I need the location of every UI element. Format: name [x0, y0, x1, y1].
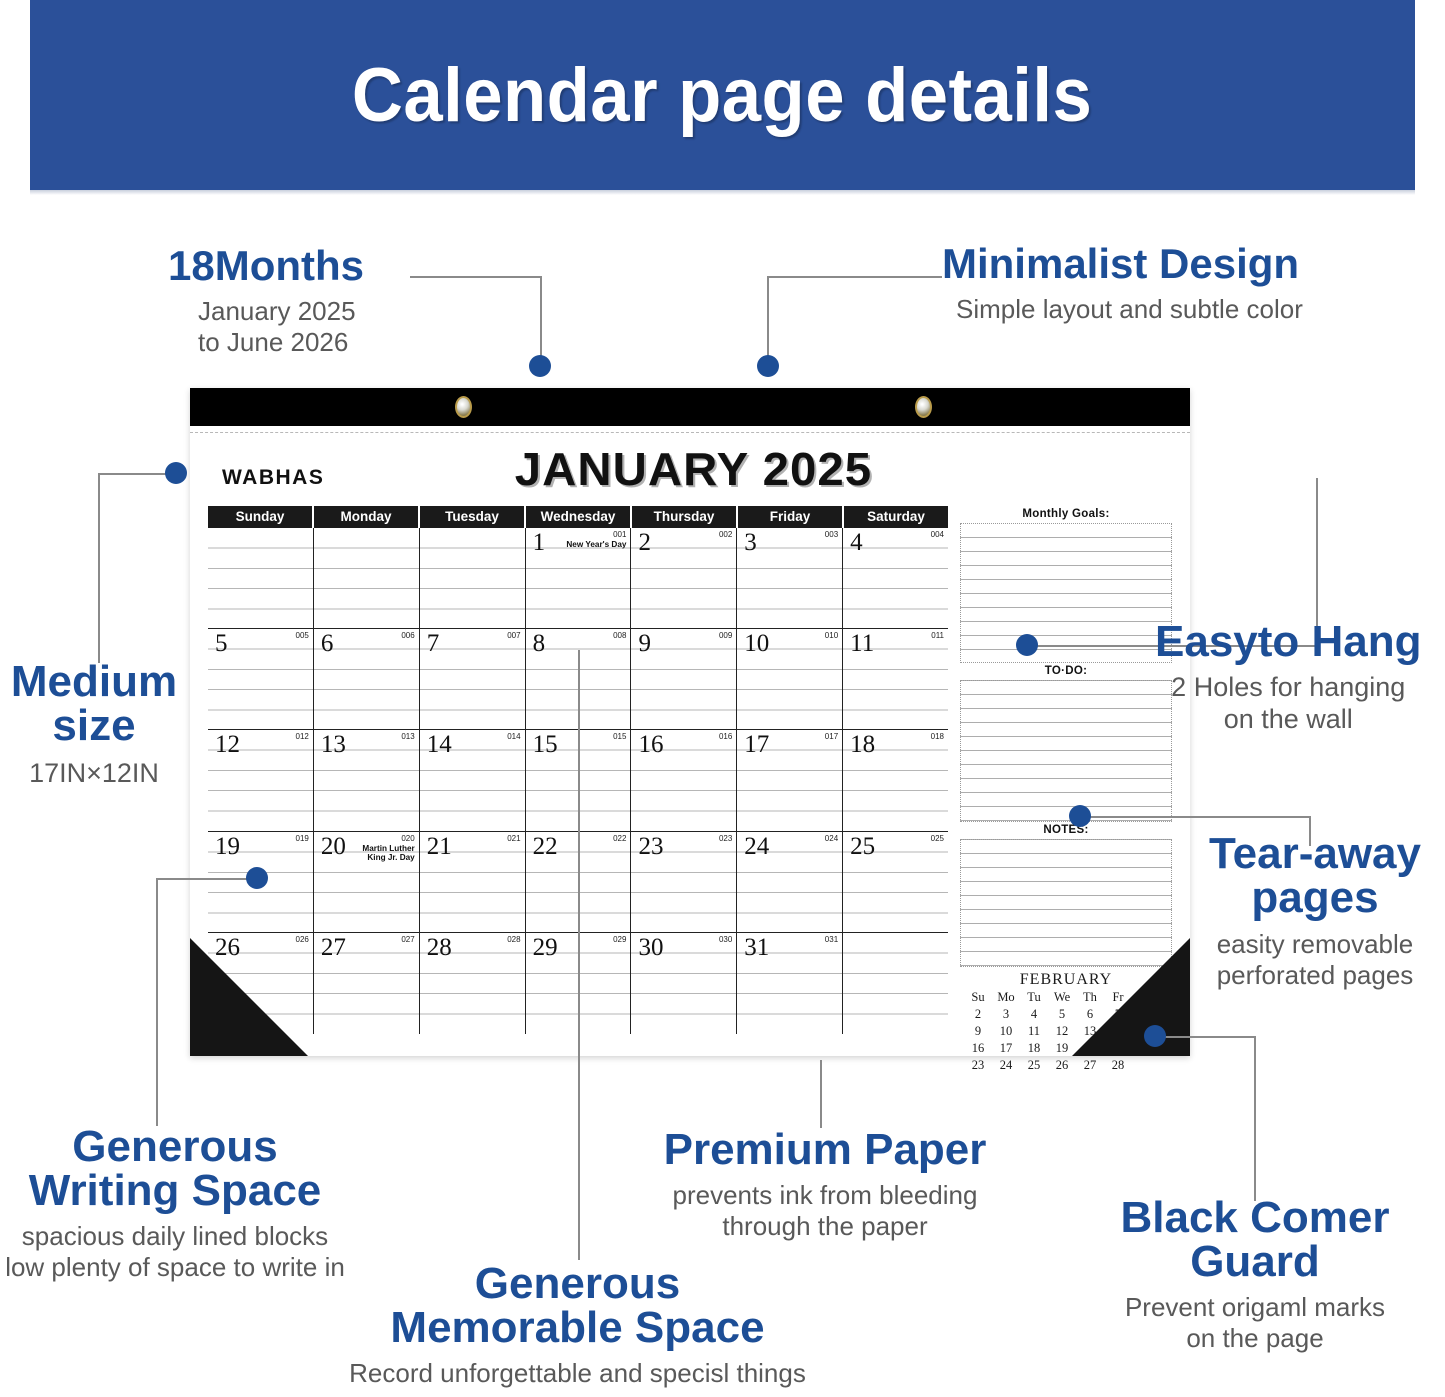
day-number: 31	[744, 935, 769, 960]
mini-day-number: 28	[1104, 1057, 1132, 1074]
perforation-line	[190, 432, 1190, 433]
calendar-day-cell[interactable]: 4004	[843, 528, 948, 628]
day-of-year-number: 020	[401, 834, 414, 843]
mini-day-number	[1132, 1057, 1160, 1074]
mini-day-number: 11	[1020, 1023, 1048, 1040]
day-of-year-number: 028	[507, 935, 520, 944]
day-of-year-number: 005	[296, 631, 309, 640]
day-number: 3	[744, 530, 757, 555]
day-of-year-number: 023	[719, 834, 732, 843]
day-number: 4	[850, 530, 863, 555]
mini-weekday-su: Su	[964, 989, 992, 1006]
day-of-year-number: 014	[507, 732, 520, 741]
day-of-year-number: 019	[296, 834, 309, 843]
holiday-label: New Year's Day	[554, 540, 626, 549]
day-of-year-number: 021	[507, 834, 520, 843]
callout-dot-tear	[1069, 805, 1091, 827]
callout-dot-corner	[1144, 1025, 1166, 1047]
weekday-header-saturday: Saturday	[844, 506, 948, 528]
calendar-sheet: WABHAS JANUARY 2025 SundayMondayTuesdayW…	[190, 388, 1190, 1056]
day-of-year-number: 024	[825, 834, 838, 843]
callout-months-sub: January 2025 to June 2026	[198, 296, 364, 357]
day-number: 18	[850, 732, 875, 757]
brand-name: WABHAS	[222, 466, 324, 490]
leader-line-paper-v	[820, 1060, 822, 1128]
callout-corner-guard: Black Comer Guard Prevent origaml marks …	[1075, 1196, 1435, 1353]
calendar-head: WABHAS JANUARY 2025	[190, 440, 1190, 508]
calendar-day-cell[interactable]: 13013	[314, 730, 420, 830]
calendar-day-cell[interactable]: 16016	[631, 730, 737, 830]
calendar-day-cell[interactable]: 21021	[420, 832, 526, 932]
callout-medium-size-sub: 17IN×12IN	[0, 758, 194, 790]
day-number: 19	[215, 834, 240, 859]
calendar-day-cell[interactable]: 1001New Year's Day	[526, 528, 632, 628]
callout-months-title: 18Months	[168, 245, 364, 287]
mini-day-number: 2	[964, 1006, 992, 1023]
day-number: 13	[321, 732, 346, 757]
day-number: 6	[321, 631, 334, 656]
day-number: 14	[427, 732, 452, 757]
todo-lines[interactable]	[960, 680, 1172, 822]
day-of-year-number: 009	[719, 631, 732, 640]
mini-weekday-tu: Tu	[1020, 989, 1048, 1006]
day-number: 1	[533, 530, 546, 555]
black-corner-guard-left	[190, 938, 308, 1056]
day-of-year-number: 004	[931, 530, 944, 539]
weekday-header-monday: Monday	[314, 506, 420, 528]
leader-line-memorable-v	[578, 650, 580, 1260]
day-number: 16	[638, 732, 663, 757]
callout-minimalist-sub: Simple layout and subtle color	[956, 294, 1303, 325]
calendar-day-cell[interactable]: 14014	[420, 730, 526, 830]
day-number: 23	[638, 834, 663, 859]
day-of-year-number: 003	[825, 530, 838, 539]
todo-section: TO·DO:	[960, 663, 1172, 822]
mini-day-number: 25	[1020, 1057, 1048, 1074]
mini-day-number: 24	[992, 1057, 1020, 1074]
callout-tear-away: Tear-away pages easity removable perfora…	[1190, 832, 1440, 990]
day-number: 25	[850, 834, 875, 859]
calendar-day-cell[interactable]: 17017	[737, 730, 843, 830]
day-of-year-number: 008	[613, 631, 626, 640]
callout-dot-writing	[246, 867, 268, 889]
calendar-day-cell[interactable]: 20020Martin Luther King Jr. Day	[314, 832, 420, 932]
weekday-header-thursday: Thursday	[632, 506, 738, 528]
callout-medium-size: Medium size 17IN×12IN	[0, 660, 194, 790]
day-of-year-number: 017	[825, 732, 838, 741]
leader-line-minimalist	[767, 276, 942, 278]
leader-line-minimalist-v	[767, 276, 769, 366]
mini-day-number: 17	[992, 1040, 1020, 1057]
day-number: 17	[744, 732, 769, 757]
calendar-day-cell[interactable]	[843, 933, 948, 1034]
mini-day-number: 3	[992, 1006, 1020, 1023]
mini-day-number: 23	[964, 1057, 992, 1074]
day-of-year-number: 007	[507, 631, 520, 640]
day-number: 12	[215, 732, 240, 757]
todo-label: TO·DO:	[960, 663, 1172, 680]
leader-line-corner	[1155, 1036, 1255, 1038]
writing-lines	[420, 528, 525, 628]
callout-corner-guard-title: Black Comer Guard	[1075, 1196, 1435, 1284]
callout-writing-space: Generous Writing Space spacious daily li…	[0, 1125, 360, 1282]
callout-writing-space-sub: spacious daily lined blocks low plenty o…	[0, 1221, 360, 1282]
monthly-goals-lines[interactable]	[960, 523, 1172, 663]
day-number: 30	[638, 935, 663, 960]
calendar-day-cell[interactable]: 24024	[737, 832, 843, 932]
weekday-header-row: SundayMondayTuesdayWednesdayThursdayFrid…	[208, 506, 948, 528]
day-number: 22	[533, 834, 558, 859]
calendar-day-cell[interactable]: 3003	[737, 528, 843, 628]
weekday-header-friday: Friday	[738, 506, 844, 528]
day-of-year-number: 013	[401, 732, 414, 741]
day-number: 24	[744, 834, 769, 859]
mini-day-number: 4	[1020, 1006, 1048, 1023]
callout-dot-hang	[1016, 634, 1038, 656]
black-corner-guard-right	[1072, 938, 1190, 1056]
grommet-hole-icon	[915, 396, 932, 418]
callout-premium-paper-sub: prevents ink from bleeding through the p…	[625, 1180, 1025, 1241]
mini-day-number: 27	[1076, 1057, 1104, 1074]
leader-line-months-v	[540, 276, 542, 366]
day-of-year-number: 002	[719, 530, 732, 539]
day-number: 7	[427, 631, 440, 656]
mini-day-number: 10	[992, 1023, 1020, 1040]
calendar-day-cell[interactable]: 2002	[631, 528, 737, 628]
callout-minimalist-title: Minimalist Design	[942, 243, 1303, 285]
holiday-label: Martin Luther King Jr. Day	[343, 844, 415, 862]
callout-months: 18Months January 2025 to June 2026	[168, 245, 364, 357]
day-of-year-number: 001	[613, 530, 626, 539]
calendar-day-cell[interactable]: 12012	[208, 730, 314, 830]
callout-corner-guard-sub: Prevent origaml marks on the page	[1075, 1292, 1435, 1353]
day-of-year-number: 027	[401, 935, 414, 944]
day-number: 29	[533, 935, 558, 960]
day-of-year-number: 031	[825, 935, 838, 944]
callout-writing-space-title: Generous Writing Space	[0, 1125, 360, 1213]
day-of-year-number: 016	[719, 732, 732, 741]
calendar-day-cell[interactable]: 27027	[314, 933, 420, 1034]
day-of-year-number: 012	[296, 732, 309, 741]
day-number: 27	[321, 935, 346, 960]
day-number: 8	[533, 631, 546, 656]
callout-easy-hang-sub: 2 Holes for hanging on the wall	[1155, 672, 1422, 736]
callout-dot-months	[529, 355, 551, 377]
calendar-day-cell[interactable]: 28028	[420, 933, 526, 1034]
callout-premium-paper: Premium Paper prevents ink from bleeding…	[625, 1128, 1025, 1241]
day-number: 11	[850, 631, 874, 656]
calendar-day-cell[interactable]	[208, 528, 314, 628]
month-title: JANUARY 2025	[515, 442, 872, 496]
writing-lines	[314, 528, 419, 628]
callout-dot-medium	[165, 462, 187, 484]
notes-label: NOTES:	[960, 822, 1172, 839]
monthly-goals-label: Monthly Goals:	[960, 506, 1172, 523]
page-title: Calendar page details	[352, 52, 1092, 139]
grommet-hole-icon	[455, 396, 472, 418]
mini-day-number: 9	[964, 1023, 992, 1040]
calendar-week-row: 1001New Year's Day200230034004	[208, 528, 948, 629]
calendar-day-cell[interactable]: 18018	[843, 730, 948, 830]
day-of-year-number: 029	[613, 935, 626, 944]
weekday-header-wednesday: Wednesday	[526, 506, 632, 528]
day-number: 2	[638, 530, 651, 555]
callout-premium-paper-title: Premium Paper	[625, 1128, 1025, 1172]
calendar-day-cell[interactable]: 11011	[843, 629, 948, 729]
calendar-day-cell[interactable]: 31031	[737, 933, 843, 1034]
leader-line-writing-v	[156, 878, 158, 1126]
leader-line-corner-v	[1254, 1036, 1256, 1201]
mini-day-number: 26	[1048, 1057, 1076, 1074]
writing-lines	[843, 933, 948, 1034]
monthly-goals-section: Monthly Goals:	[960, 506, 1172, 663]
callout-tear-away-sub: easity removable perforated pages	[1190, 929, 1440, 990]
mini-month-week-row: 232425262728	[960, 1057, 1172, 1074]
calendar-day-cell[interactable]: 10010	[737, 629, 843, 729]
day-number: 21	[427, 834, 452, 859]
calendar-day-cell[interactable]: 23023	[631, 832, 737, 932]
mini-day-number: 18	[1020, 1040, 1048, 1057]
calendar-day-cell[interactable]	[420, 528, 526, 628]
day-of-year-number: 011	[931, 631, 944, 640]
day-number: 9	[638, 631, 651, 656]
page-header-banner: Calendar page details	[30, 0, 1415, 190]
callout-easy-hang-title: Easyto Hang	[1155, 620, 1422, 664]
callout-memorable-space: Generous Memorable Space Record unforget…	[340, 1262, 815, 1389]
writing-lines	[208, 528, 313, 628]
day-number: 15	[533, 732, 558, 757]
calendar-day-cell[interactable]: 30030	[631, 933, 737, 1034]
callout-minimalist: Minimalist Design Simple layout and subt…	[942, 243, 1303, 325]
day-number: 10	[744, 631, 769, 656]
day-number: 28	[427, 935, 452, 960]
leader-line-medium-v	[98, 473, 100, 663]
day-of-year-number: 025	[931, 834, 944, 843]
callout-memorable-space-title: Generous Memorable Space	[340, 1262, 815, 1350]
calendar-day-cell[interactable]: 5005	[208, 629, 314, 729]
calendar-day-cell[interactable]: 7007	[420, 629, 526, 729]
calendar-day-cell[interactable]: 6006	[314, 629, 420, 729]
day-of-year-number: 030	[719, 935, 732, 944]
day-of-year-number: 006	[401, 631, 414, 640]
callout-easy-hang: Easyto Hang 2 Holes for hanging on the w…	[1155, 620, 1422, 736]
day-of-year-number: 018	[931, 732, 944, 741]
calendar-day-cell[interactable]	[314, 528, 420, 628]
leader-line-months	[410, 276, 542, 278]
banner-shadow	[30, 190, 1415, 195]
leader-line-tear	[1080, 816, 1310, 818]
callout-memorable-space-sub: Record unforgettable and specisl things	[340, 1358, 815, 1389]
calendar-day-cell[interactable]: 9009	[631, 629, 737, 729]
day-of-year-number: 022	[613, 834, 626, 843]
day-number: 5	[215, 631, 228, 656]
calendar-day-cell[interactable]: 25025	[843, 832, 948, 932]
callout-medium-size-title: Medium size	[0, 660, 194, 748]
weekday-header-tuesday: Tuesday	[420, 506, 526, 528]
calendar-top-band	[190, 388, 1190, 426]
callout-tear-away-title: Tear-away pages	[1190, 832, 1440, 920]
mini-day-number: 16	[964, 1040, 992, 1057]
callout-dot-minimalist	[757, 355, 779, 377]
weekday-header-sunday: Sunday	[208, 506, 314, 528]
day-of-year-number: 015	[613, 732, 626, 741]
day-of-year-number: 010	[825, 631, 838, 640]
mini-weekday-mo: Mo	[992, 989, 1020, 1006]
